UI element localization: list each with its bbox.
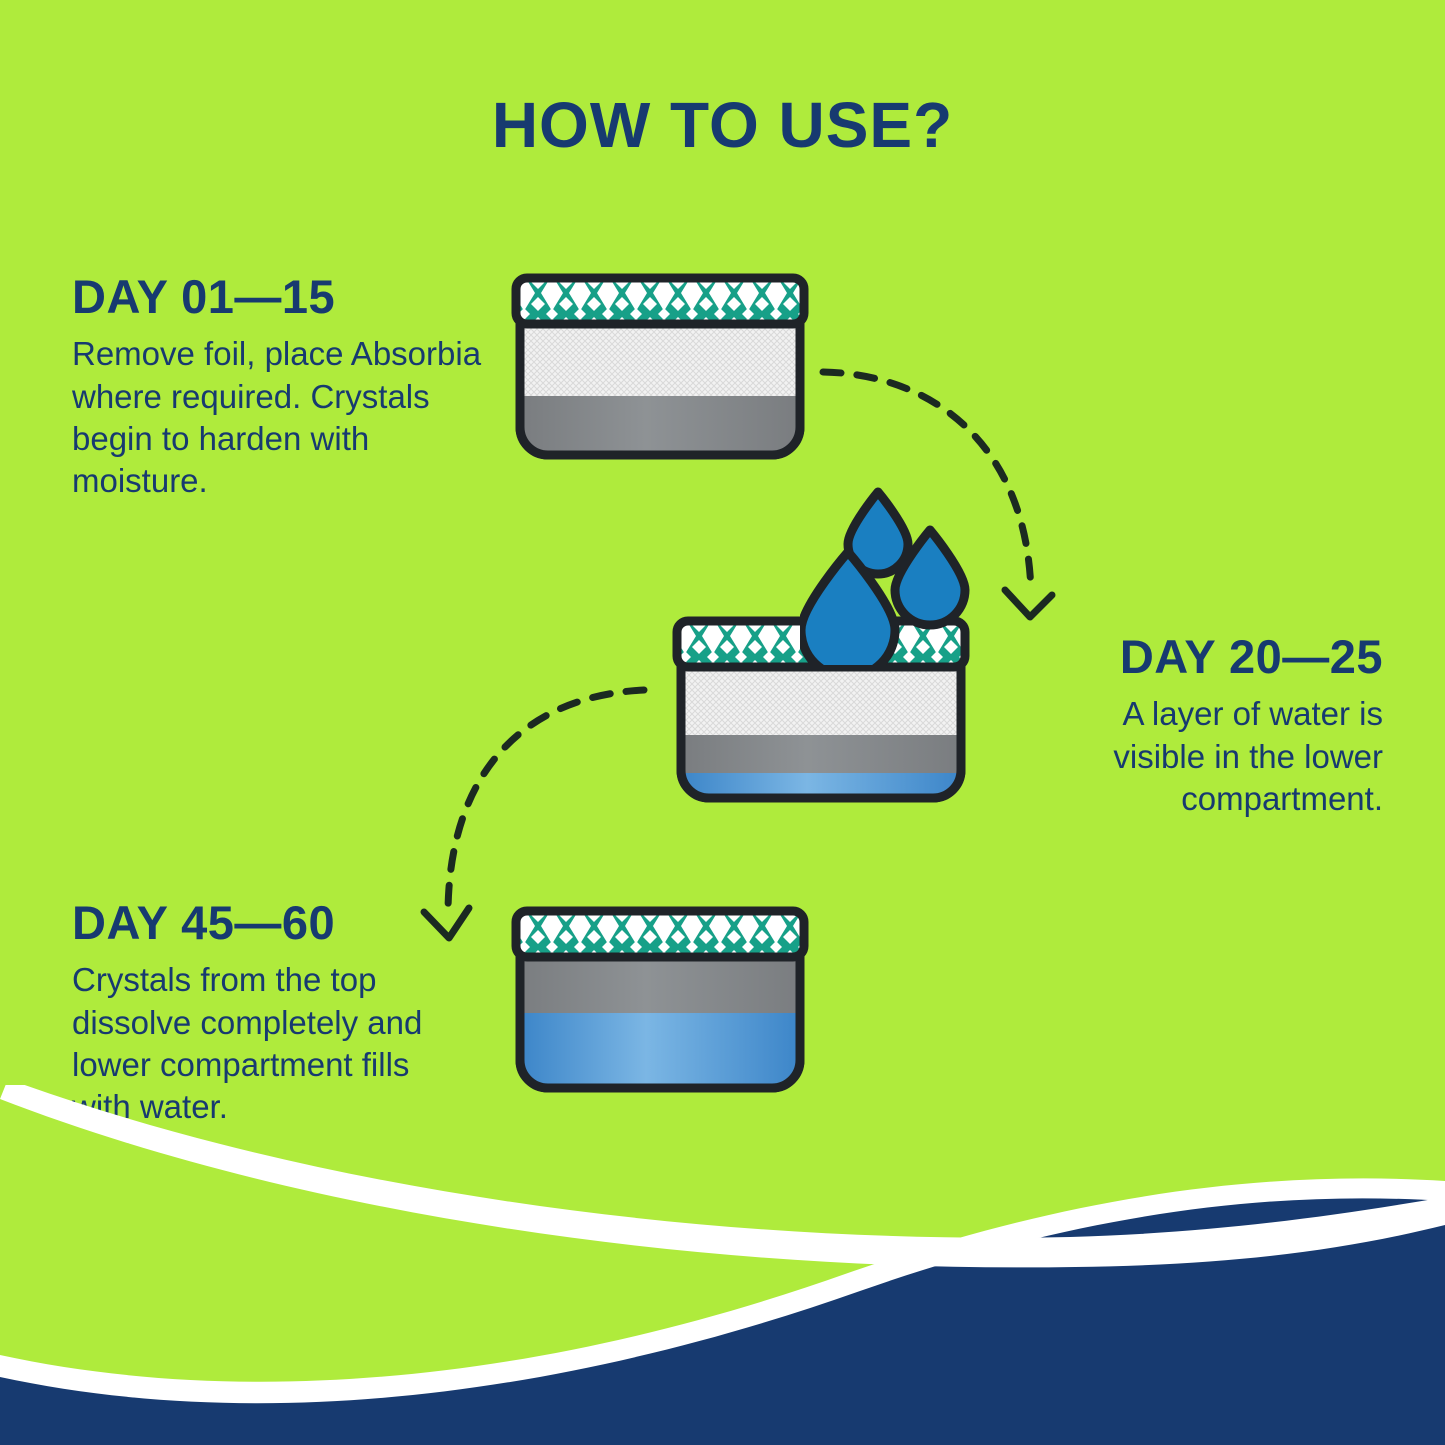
arrow-step1-to-step2: [815, 352, 1070, 652]
step-heading-day-01-15: DAY 01—15: [72, 272, 492, 321]
arrow2-head-icon: [424, 908, 469, 938]
jar2-water-layer: [683, 770, 959, 796]
arrow1-head-icon: [1005, 590, 1052, 617]
jar1-crystal-gray-layer: [522, 396, 798, 453]
jar1-lid-lattice: [516, 278, 804, 324]
bottom-wave-decoration: [0, 1085, 1445, 1445]
arrow-step2-to-step3: [404, 662, 674, 962]
jar3-water-layer: [522, 1013, 798, 1086]
step-heading-day-20-25: DAY 20—25: [1023, 632, 1383, 681]
step-block-day-20-25: DAY 20—25 A layer of water is visible in…: [1023, 632, 1383, 820]
arrow1-dashed-path: [823, 372, 1031, 592]
page-title: HOW TO USE?: [0, 88, 1445, 162]
step-body-day-20-25: A layer of water is visible in the lower…: [1023, 693, 1383, 820]
jar2-crystal-gray-layer: [683, 735, 959, 773]
step-block-day-01-15: DAY 01—15 Remove foil, place Absorbia wh…: [72, 272, 492, 502]
step-body-day-01-15: Remove foil, place Absorbia where requir…: [72, 333, 492, 502]
jar-stage-1: [510, 272, 810, 472]
wave-white-swoosh-upper: [0, 1085, 1445, 1267]
arrow2-dashed-path: [448, 690, 644, 910]
infographic-poster: HOW TO USE? DAY 01—15 Remove foil, place…: [0, 0, 1445, 1445]
